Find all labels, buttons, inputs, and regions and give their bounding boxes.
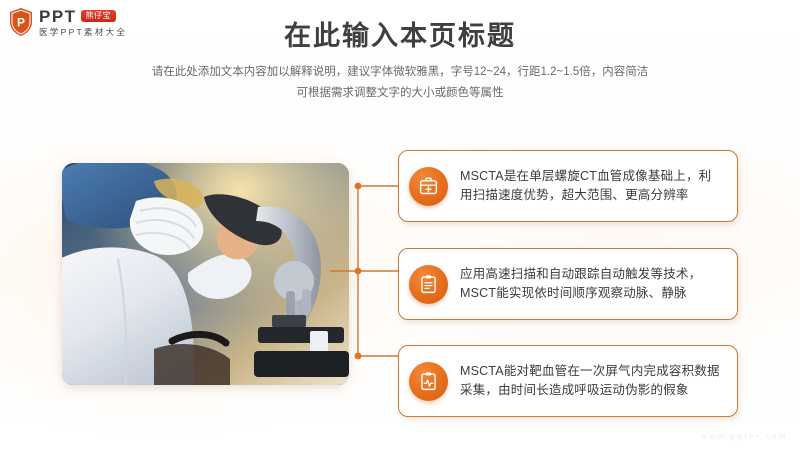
info-card-3[interactable]: MSCTA能对靶血管在一次屏气内完成容积数据采集，由时间长造成呼吸运动伪影的假象 [398, 345, 738, 417]
info-card-2[interactable]: 应用高速扫描和自动跟踪自动触发等技术，MSCT能实现依时间顺序观察动脉、静脉 [398, 248, 738, 320]
page-title: 在此输入本页标题 [0, 14, 800, 53]
microscope-photo-illustration [62, 163, 349, 385]
site-watermark: www.ppter.com [701, 432, 788, 441]
info-card-1[interactable]: MSCTA是在单层螺旋CT血管成像基础上，利用扫描速度优势，超大范围、更高分辨率 [398, 150, 738, 222]
slide-root: P PPT 熊仔宝 医学PPT素材大全 在此输入本页标题 请在此处添加文本内容加… [0, 0, 800, 450]
microscope-photo [62, 163, 349, 385]
info-card-3-text: MSCTA能对靶血管在一次屏气内完成容积数据采集，由时间长造成呼吸运动伪影的假象 [460, 362, 723, 401]
subtitle-line-1: 请在此处添加文本内容加以解释说明，建议字体微软雅黑，字号12~24，行距1.2~… [0, 62, 800, 83]
clipboard-record-icon [409, 265, 448, 304]
subtitle-line-2: 可根据需求调整文字的大小或颜色等属性 [0, 83, 800, 104]
page-subtitle: 请在此处添加文本内容加以解释说明，建议字体微软雅黑，字号12~24，行距1.2~… [0, 62, 800, 105]
clipboard-ecg-icon [409, 362, 448, 401]
medical-kit-icon [409, 167, 448, 206]
info-card-2-text: 应用高速扫描和自动跟踪自动触发等技术，MSCT能实现依时间顺序观察动脉、静脉 [460, 265, 723, 304]
info-card-1-text: MSCTA是在单层螺旋CT血管成像基础上，利用扫描速度优势，超大范围、更高分辨率 [460, 167, 723, 206]
